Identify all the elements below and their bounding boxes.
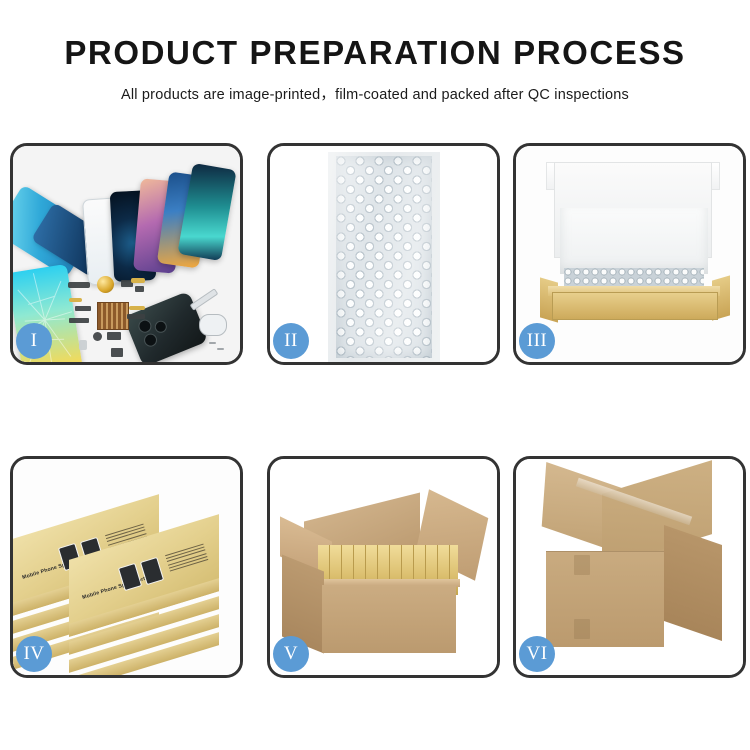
step-panel-3: III bbox=[513, 143, 746, 365]
step-panel-4: Mobile Phone Spare Parts bbox=[10, 456, 243, 678]
chip-grid-part bbox=[97, 302, 129, 330]
spare-part bbox=[75, 306, 91, 311]
steps-grid: I II bbox=[10, 143, 740, 678]
step-badge-5: V bbox=[273, 636, 309, 672]
flex-cable-part bbox=[129, 306, 145, 310]
page-title: PRODUCT PREPARATION PROCESS bbox=[0, 0, 750, 71]
spare-part bbox=[127, 314, 145, 319]
spare-part bbox=[107, 332, 121, 340]
spare-part bbox=[79, 340, 87, 350]
step-badge-1: I bbox=[16, 323, 52, 359]
sealed-carton-side bbox=[664, 525, 722, 641]
camera-lens-icon bbox=[142, 332, 159, 349]
step-badge-2: II bbox=[273, 323, 309, 359]
spare-part bbox=[93, 332, 102, 341]
bubble-wrap-gloss bbox=[336, 156, 432, 358]
carton-tab bbox=[574, 619, 590, 639]
camera-lens-icon bbox=[153, 319, 169, 335]
flex-cable-part bbox=[131, 278, 145, 283]
page-subtitle: All products are image-printed，film-coat… bbox=[0, 71, 750, 104]
spare-part bbox=[111, 348, 123, 357]
carton-front-face bbox=[322, 585, 456, 653]
header: PRODUCT PREPARATION PROCESS All products… bbox=[0, 0, 750, 104]
step-badge-3: III bbox=[519, 323, 555, 359]
mailer-front-panel bbox=[552, 292, 718, 320]
steps-row-1: I II bbox=[10, 143, 740, 365]
screw-part bbox=[217, 348, 224, 350]
camera-lens-icon bbox=[136, 318, 153, 335]
step-panel-5: V bbox=[267, 456, 500, 678]
step-panel-6: VI bbox=[513, 456, 746, 678]
step-panel-2: II bbox=[267, 143, 500, 365]
carton-tab bbox=[574, 555, 590, 575]
steps-row-2: Mobile Phone Spare Parts bbox=[10, 456, 740, 678]
sealed-carton-front bbox=[546, 551, 664, 647]
mailer-foam-liner bbox=[560, 208, 708, 274]
carton-seam bbox=[546, 551, 664, 552]
product-preparation-infographic: PRODUCT PREPARATION PROCESS All products… bbox=[0, 0, 750, 750]
tool-handle bbox=[199, 314, 227, 336]
spare-part bbox=[69, 318, 89, 323]
spare-part bbox=[68, 282, 90, 288]
screw-part bbox=[209, 342, 216, 344]
step-badge-6: VI bbox=[519, 636, 555, 672]
flex-cable-part bbox=[69, 298, 82, 302]
step-badge-4: IV bbox=[16, 636, 52, 672]
tweezers-tool bbox=[190, 288, 219, 311]
spare-part bbox=[135, 286, 144, 292]
vibration-motor-part bbox=[97, 276, 114, 293]
step-panel-1: I bbox=[10, 143, 243, 365]
